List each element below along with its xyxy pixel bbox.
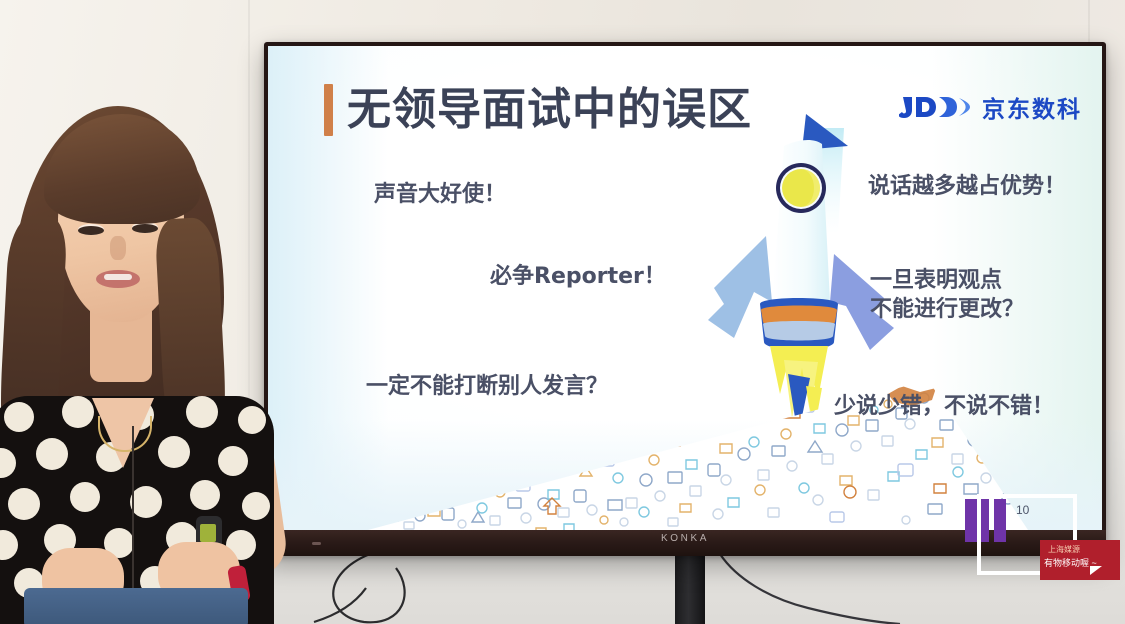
tv-screen: 无领导面试中的误区 京东数科 [268, 46, 1102, 530]
callout-talk-more: 说话越多越占优势！ [868, 172, 1066, 201]
logo-text: 京东数科 [982, 90, 1082, 124]
jeans [24, 588, 248, 624]
brand-logo: 京东数科 [899, 90, 1082, 124]
teeth [104, 274, 132, 280]
nose [110, 236, 126, 260]
page-number: 10 [1016, 503, 1029, 517]
remote-screen [200, 524, 216, 542]
callout-must-be-reporter: 必争Reporter！ [490, 262, 666, 291]
callout-no-interrupt: 一定不能打断别人发言？ [366, 372, 608, 401]
tv-power-led [312, 542, 321, 545]
eye-right [132, 224, 158, 233]
scene-root: 无领导面试中的误区 京东数科 [0, 0, 1125, 624]
cursor-icon [1090, 566, 1102, 575]
watermark-line-1: 上海媒源 [1048, 544, 1080, 555]
eye-left [78, 226, 104, 235]
presentation-slide: 无领导面试中的误区 京东数科 [268, 46, 1102, 530]
tv-brand-label: KONKA [661, 533, 709, 544]
callout-say-less: 少说少错，不说不错！ [834, 392, 1054, 421]
watermark-badge: 上海媒源 有物移动喔 ~ [1040, 540, 1120, 580]
callout-no-change-view: 一旦表明观点 不能进行更改？ [870, 266, 1024, 324]
television: 无领导面试中的误区 京东数科 [264, 42, 1106, 556]
callout-voice-loud: 声音大好使！ [374, 180, 506, 209]
title-accent-bar [324, 84, 333, 136]
watermark-line-2: 有物移动喔 ~ [1044, 556, 1097, 569]
presenter-person [0, 96, 278, 624]
tv-cables [300, 552, 1060, 624]
